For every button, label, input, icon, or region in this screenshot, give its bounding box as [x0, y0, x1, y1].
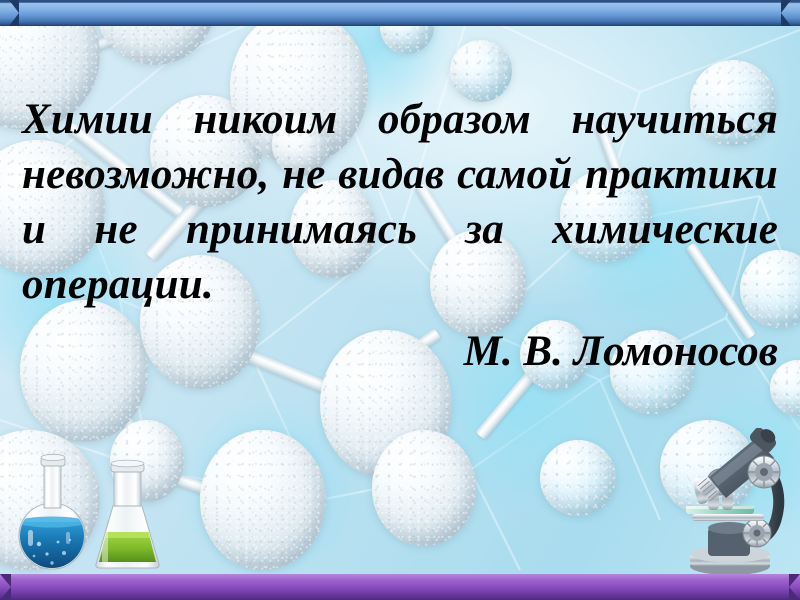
- molecule-atom: [200, 430, 326, 570]
- microscope-focus-knob-lower: [743, 519, 771, 547]
- quote-block: Химии никоим образом научиться невозможн…: [22, 92, 778, 375]
- microscope-illustration: [664, 428, 796, 578]
- slide-canvas: Химии никоим образом научиться невозможн…: [0, 0, 800, 600]
- molecule-atom: [372, 430, 476, 546]
- glassware-illustration: [6, 444, 178, 576]
- top-bevel-bar: [0, 0, 800, 26]
- molecule-atom: [540, 440, 616, 516]
- bottom-bar-left-cap: [0, 574, 11, 600]
- conical-flask: [91, 460, 167, 572]
- top-bar-left-cap: [9, 0, 19, 26]
- quote-attribution: М. В. Ломоносов: [22, 328, 778, 375]
- bottom-bevel-bar: [0, 574, 800, 600]
- top-bar-highlight: [18, 3, 782, 20]
- round-bottom-flask: [18, 454, 88, 572]
- top-bar-right-cap: [781, 0, 791, 26]
- microscope-focus-knob-upper: [748, 456, 780, 488]
- quote-text: Химии никоим образом научиться невозможн…: [22, 92, 778, 312]
- bottom-bar-right-cap: [789, 574, 800, 600]
